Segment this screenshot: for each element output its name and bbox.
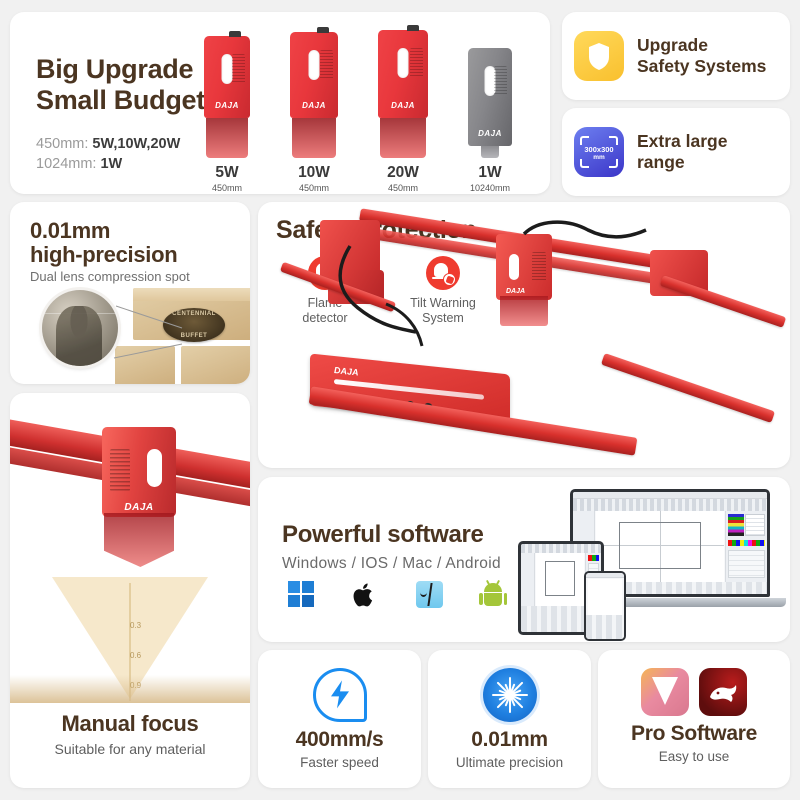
precision-caption: Ultimate precision	[428, 755, 591, 770]
upgrade-safety-line2: Safety Systems	[637, 56, 766, 77]
powerful-software-card: Powerful software Windows / IOS / Mac / …	[258, 477, 790, 642]
ruler-tick-1: 0.3	[130, 621, 141, 630]
manual-focus-subtitle: Suitable for any material	[10, 741, 250, 757]
module-size: 450mm	[182, 182, 272, 194]
hero-heading: Big Upgrade Small Budget	[36, 54, 205, 116]
speed-caption: Faster speed	[258, 755, 421, 770]
upgrade-safety-line1: Upgrade	[637, 35, 766, 56]
pro-software-icon	[598, 668, 790, 716]
module-power: 5W	[182, 164, 272, 182]
module-size: 450mm	[269, 182, 359, 194]
module-vent-icon	[232, 54, 245, 84]
extra-large-range-card: 300x300 mm Extra large range	[562, 108, 790, 196]
ultimate-precision-card: 0.01mm Ultimate precision	[428, 650, 591, 788]
speed-value: 400mm/s	[258, 728, 421, 752]
magnified-engraving-circle	[42, 290, 118, 366]
manual-focus-card: DAJA 0.3 0.6 0.9 Manual focus Suitable f…	[10, 393, 250, 788]
laser-spot-icon	[483, 668, 537, 722]
infographic-page: Big Upgrade Small Budget 450mm: 5W,10W,2…	[0, 0, 800, 800]
ruler-tick-2: 0.6	[130, 651, 141, 660]
precision-value: 0.01mm	[428, 728, 591, 752]
laser-module-lineup: DAJA 5W 450mm DAJA 10W 4	[200, 26, 545, 194]
module-logo: DAJA	[478, 129, 502, 138]
os-icon-row	[288, 581, 510, 611]
software-devices-image	[518, 483, 786, 639]
stamp-bottom-text: BUFFET	[163, 333, 225, 339]
hero-heading-line2: Small Budget	[36, 85, 205, 116]
extra-range-line1: Extra large	[637, 131, 727, 152]
hero-heading-line1: Big Upgrade	[36, 54, 205, 85]
laser-grbl-dragon-icon	[699, 668, 747, 716]
module-vent-icon	[410, 48, 423, 78]
stamp-top-text: CENTENNIAL	[163, 311, 225, 317]
laser-module-5w: DAJA 5W 450mm	[204, 36, 250, 158]
finder-icon	[416, 581, 446, 611]
module-window-icon	[147, 449, 162, 487]
hero-card: Big Upgrade Small Budget 450mm: 5W,10W,2…	[10, 12, 550, 194]
module-label: 5W 450mm	[182, 164, 272, 194]
wood-blocks-image: CENTENNIAL BUFFET	[115, 288, 250, 384]
software-platforms: Windows / IOS / Mac / Android	[282, 555, 501, 573]
precision-subtitle: Dual lens compression spot	[30, 269, 190, 284]
laser-module-20w: DAJA 20W 450mm	[378, 30, 428, 158]
frame-corner-icon	[580, 136, 589, 145]
upgrade-safety-systems-card: Upgrade Safety Systems	[562, 12, 790, 100]
faster-speed-card: 400mm/s Faster speed	[258, 650, 421, 788]
app-titlebar	[573, 492, 767, 499]
machine-cables	[298, 212, 790, 468]
precision-title-line2: high-precision	[30, 242, 177, 267]
module-vent-icon	[320, 50, 333, 80]
module-power: 1W	[445, 164, 535, 182]
module-window-icon	[398, 48, 409, 78]
shield-icon	[574, 31, 624, 81]
windows-icon	[288, 581, 318, 611]
range-badge-unit: mm	[580, 154, 618, 161]
hero-spec2-value: 1W	[100, 156, 122, 172]
module-connector-icon	[407, 25, 419, 31]
module-window-icon	[222, 54, 233, 84]
upgrade-safety-label: Upgrade Safety Systems	[637, 35, 766, 77]
pro-software-caption: Easy to use	[598, 749, 790, 764]
focus-module-logo: DAJA	[124, 502, 153, 513]
high-precision-card: 0.01mm high-precision Dual lens compress…	[10, 202, 250, 384]
module-logo: DAJA	[215, 101, 239, 110]
range-frame-icon: 300x300 mm	[574, 127, 624, 177]
hero-spec-row-1: 450mm: 5W,10W,20W	[36, 134, 180, 154]
module-connector-icon	[317, 27, 329, 33]
module-label: 20W 450mm	[358, 164, 448, 194]
module-vent-icon	[494, 66, 507, 96]
module-size: 10240mm	[445, 182, 535, 194]
module-size: 450mm	[358, 182, 448, 194]
precision-title-line1: 0.01mm	[30, 218, 110, 243]
range-badge-dimensions: 300x300	[580, 145, 618, 154]
apple-icon	[352, 581, 382, 611]
manual-focus-title: Manual focus	[10, 711, 250, 737]
engraved-stamp: CENTENNIAL BUFFET	[163, 308, 225, 342]
module-power: 20W	[358, 164, 448, 182]
app-toolbar	[573, 499, 767, 511]
frame-corner-icon	[609, 136, 618, 145]
hero-spec1-label: 450mm:	[36, 136, 88, 152]
hero-spec1-value: 5W,10W,20W	[92, 136, 180, 152]
module-window-icon	[309, 50, 320, 80]
module-logo: DAJA	[302, 101, 326, 110]
laser-module-1w: DAJA 1W 10240mm	[468, 48, 512, 158]
hero-spec-row-2: 1024mm: 1W	[36, 154, 180, 174]
extra-large-range-label: Extra large range	[637, 131, 727, 173]
laser-module-10w: DAJA 10W 450mm	[290, 32, 338, 158]
extra-range-line2: range	[637, 152, 727, 173]
module-power: 10W	[269, 164, 359, 182]
module-connector-icon	[229, 31, 241, 37]
safety-protection-card: Safety Protection Flame detector Til	[258, 202, 790, 468]
hero-spec2-label: 1024mm:	[36, 156, 96, 172]
module-label: 1W 10240mm	[445, 164, 535, 194]
pro-software-card: Pro Software Easy to use	[598, 650, 790, 788]
phone-device	[584, 571, 626, 641]
module-vent-icon	[110, 449, 130, 491]
lightning-speed-icon	[313, 668, 367, 722]
software-title: Powerful software	[282, 521, 484, 549]
focus-laser-shroud	[104, 513, 174, 567]
pro-software-value: Pro Software	[598, 722, 790, 746]
focus-work-surface	[10, 675, 250, 703]
module-label: 10W 450mm	[269, 164, 359, 194]
android-icon	[480, 581, 510, 611]
manual-focus-image: DAJA 0.3 0.6 0.9	[10, 393, 250, 703]
laser-engraver-machine-image: DAJA DAJA	[298, 212, 790, 468]
hero-specs: 450mm: 5W,10W,20W 1024mm: 1W	[36, 134, 180, 174]
focus-laser-module: DAJA	[102, 427, 176, 577]
app-right-panel	[725, 511, 767, 582]
module-logo: DAJA	[391, 101, 415, 110]
lightburn-v-icon	[641, 668, 689, 716]
